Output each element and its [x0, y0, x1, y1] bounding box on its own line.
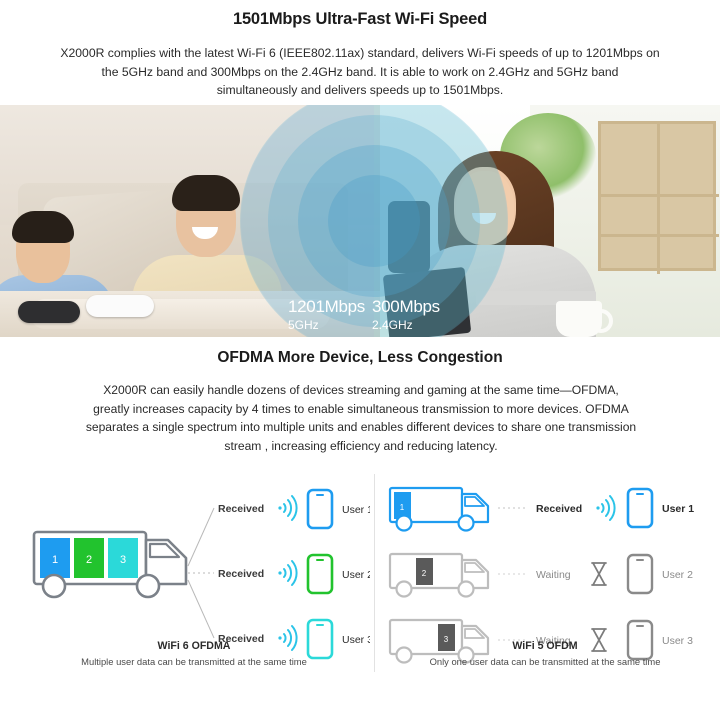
- wifi6-caption-subtitle: Multiple user data can be transmitted at…: [18, 656, 370, 667]
- user-label-2: User 2: [662, 569, 693, 581]
- status-label-2: Waiting: [536, 569, 571, 581]
- wifi5-caption-title: WiFi 5 OFDM: [380, 640, 710, 652]
- branch-lines: [188, 508, 214, 638]
- ofdma-section-body: X2000R can easily handle dozens of devic…: [85, 381, 637, 455]
- slot-label-3: 3: [120, 554, 126, 566]
- phone-user-1: [628, 489, 652, 527]
- speed-section-body: X2000R complies with the latest Wi-Fi 6 …: [60, 44, 660, 100]
- truck-multi-slot: 1 2 3: [34, 532, 186, 597]
- callout-5ghz: 1201Mbps 5GHz: [288, 297, 365, 337]
- status-label-1: Received: [536, 503, 582, 515]
- wifi5-caption: WiFi 5 OFDM Only one user data can be tr…: [380, 640, 710, 667]
- speed-section-title: 1501Mbps Ultra-Fast Wi-Fi Speed: [0, 10, 720, 29]
- user-label-1: User 1: [342, 504, 370, 516]
- wifi5-caption-subtitle: Only one user data can be transmitted at…: [380, 656, 710, 667]
- callout-24ghz-band: 2.4GHz: [372, 317, 445, 334]
- slot-label-2: 2: [86, 554, 92, 566]
- ofdma-section-title: OFDMA More Device, Less Congestion: [0, 349, 720, 367]
- callout-24ghz: 300Mbps 2.4GHz: [372, 297, 445, 337]
- row-user-1: 1 Received User 1: [390, 488, 694, 531]
- hourglass-icon: [592, 563, 606, 585]
- slot-label-1: 1: [400, 503, 405, 512]
- wifi-arcs-icon: [278, 496, 296, 520]
- row-user-1: Received User 1: [218, 490, 370, 528]
- wifi6-caption-title: WiFi 6 OFDMA: [18, 640, 370, 652]
- phone-user-2: [628, 555, 652, 593]
- product-feature-page: 1501Mbps Ultra-Fast Wi-Fi Speed X2000R c…: [0, 0, 720, 720]
- slot-label-2: 2: [422, 569, 427, 578]
- phone-user-2: [308, 555, 332, 593]
- user-label-2: User 2: [342, 569, 370, 581]
- callout-24ghz-speed: 300Mbps: [372, 297, 445, 317]
- wifi-arcs-icon: [278, 561, 296, 585]
- wifi-arcs-icon: [596, 496, 614, 520]
- signal-ring-1: [328, 175, 420, 267]
- user-label-1: User 1: [662, 503, 694, 515]
- diagram-divider: [374, 474, 375, 672]
- status-label-1: Received: [218, 503, 264, 515]
- wifi6-caption: WiFi 6 OFDMA Multiple user data can be t…: [18, 640, 370, 667]
- truck-slot-1: 1: [390, 488, 488, 531]
- status-label-2: Received: [218, 568, 264, 580]
- row-user-2: 2 Waiting User 2: [390, 554, 693, 597]
- row-user-2: Received User 2: [218, 555, 370, 593]
- truck-slot-2: 2: [390, 554, 488, 597]
- callout-5ghz-speed: 1201Mbps: [288, 297, 365, 317]
- slot-label-1: 1: [52, 554, 58, 566]
- callout-5ghz-band: 5GHz: [288, 317, 365, 334]
- lifestyle-photo: 1201Mbps 5GHz: [0, 105, 720, 337]
- phone-user-1: [308, 490, 332, 528]
